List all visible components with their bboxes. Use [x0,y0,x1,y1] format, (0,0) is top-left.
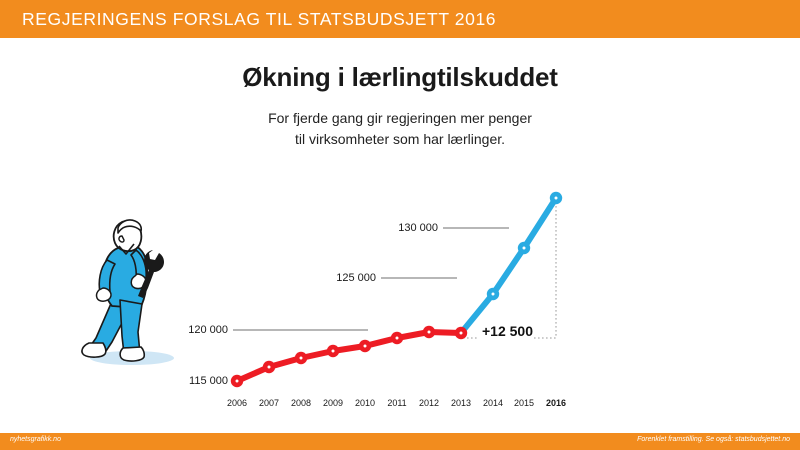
y-axis-tick-label: 125 000 [306,272,376,284]
y-axis-tick-label: 115 000 [158,375,228,387]
data-point-marker-center [555,197,558,200]
data-point-marker [455,327,467,339]
data-point-marker-center [268,366,271,369]
data-point-marker-center [428,331,431,334]
data-point-marker-center [523,247,526,250]
x-axis-tick-label-2007: 2007 [259,398,279,408]
data-point-marker [327,345,339,357]
series-line-increase [461,198,556,333]
footer-source-label: nyhetsgrafikk.no [10,436,61,443]
x-axis-tick-label-2009: 2009 [323,398,343,408]
data-point-marker-center [460,332,463,335]
worker-front-leg-icon [120,300,142,354]
series-line-historic [237,332,461,381]
data-point-marker [423,326,435,338]
x-axis-tick-label-2010: 2010 [355,398,375,408]
series-markers-increase [487,192,562,300]
worker-illustration [74,212,189,367]
page-subtitle-line-1: For fjerde gang gir regjeringen mer peng… [0,108,800,129]
x-axis-tick-label-2012: 2012 [419,398,439,408]
header-title: REGJERINGENS FORSLAG TIL STATSBUDSJETT 2… [22,9,496,30]
data-point-marker [359,340,371,352]
data-point-marker [518,242,530,254]
data-point-marker [295,352,307,364]
x-axis-tick-label-2011: 2011 [387,398,406,408]
data-point-marker [263,361,275,373]
page-subtitle-line-2: til virksomheter som har lærlinger. [0,129,800,150]
data-point-marker [550,192,562,204]
data-point-marker-center [396,337,399,340]
data-point-marker-center [364,345,367,348]
worker-front-boot-icon [120,347,144,361]
x-axis-tick-label-2015: 2015 [514,398,534,408]
x-axis-tick-label-2006: 2006 [227,398,247,408]
y-axis-tick-label: 120 000 [158,324,228,336]
series-markers-historic [231,326,467,387]
delta-annotation-label: +12 500 [482,323,533,339]
y-axis-tick-label: 130 000 [368,222,438,234]
data-point-marker-center [236,380,239,383]
guide-lines-group [463,202,556,338]
x-axis-tick-label-2016: 2016 [546,398,566,408]
page-title: Økning i lærlingtilskuddet [0,62,800,93]
data-point-marker-center [300,357,303,360]
data-point-marker [487,288,499,300]
footer-note-label: Forenklet framstilling. Se også: statsbu… [637,436,790,443]
x-axis-tick-label-2013: 2013 [451,398,471,408]
data-point-marker-center [492,293,495,296]
page-subtitle: For fjerde gang gir regjeringen mer peng… [0,108,800,150]
data-point-marker [391,332,403,344]
gridlines-group [231,228,509,381]
data-point-marker [231,375,243,387]
worker-back-hand-icon [97,288,111,301]
data-point-marker-center [332,350,335,353]
infographic-page: REGJERINGENS FORSLAG TIL STATSBUDSJETT 2… [0,0,800,450]
worker-back-boot-icon [82,343,106,357]
x-axis-tick-label-2008: 2008 [291,398,311,408]
x-axis-tick-label-2014: 2014 [483,398,503,408]
